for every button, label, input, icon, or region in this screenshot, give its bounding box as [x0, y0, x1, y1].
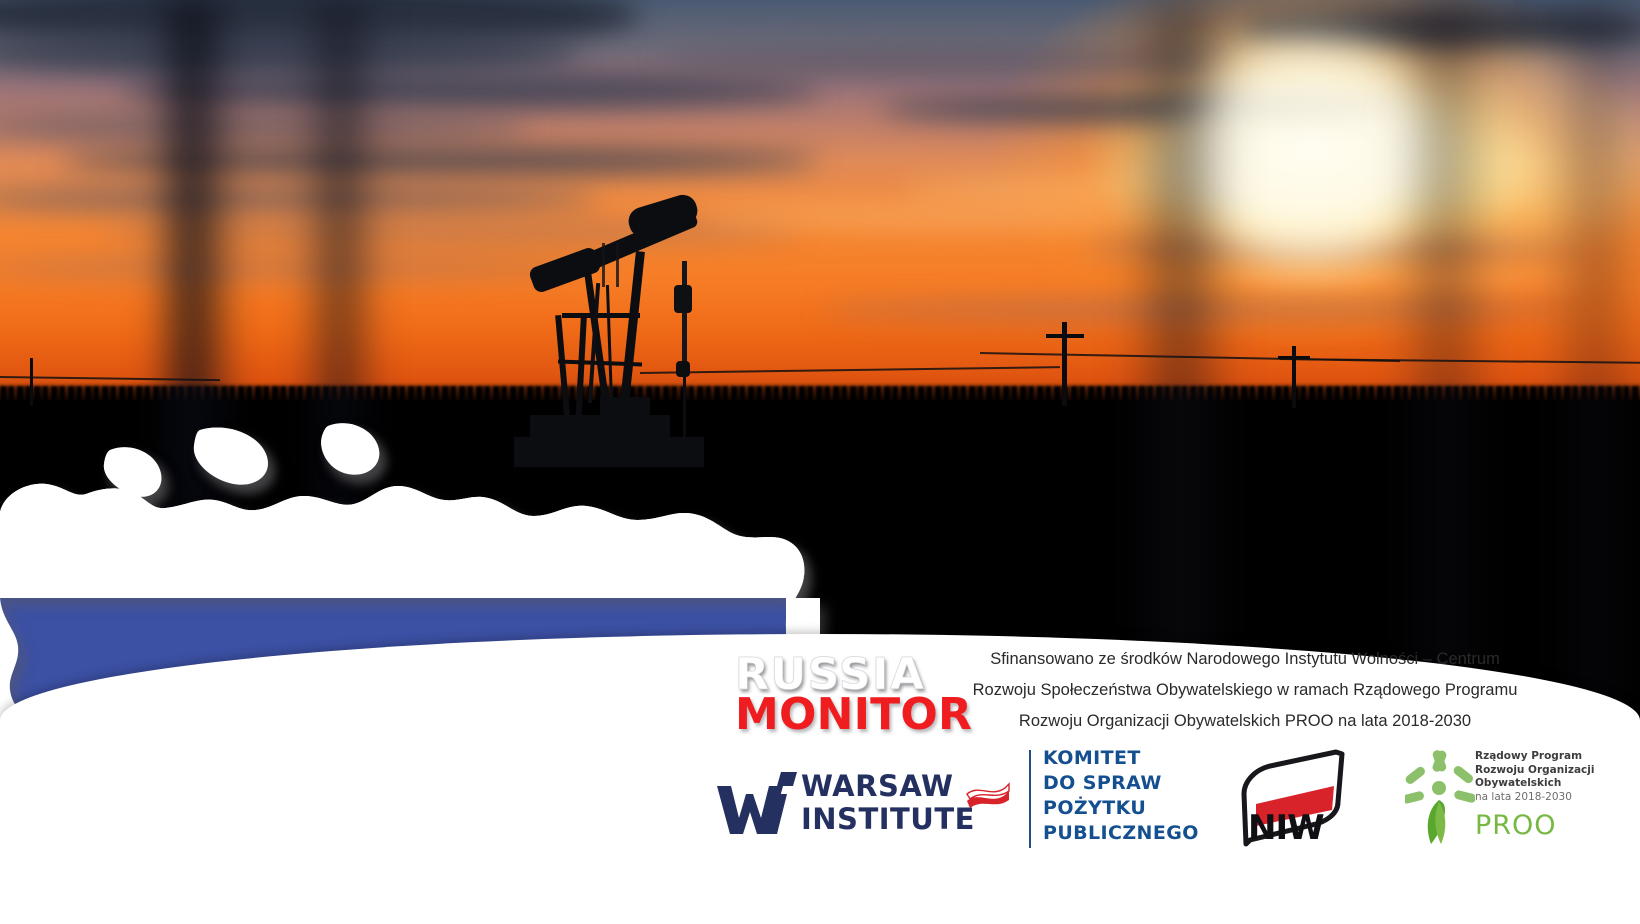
russia-monitor-logo[interactable]: RUSSIA MONITOR — [735, 654, 945, 736]
banner-image: RUSSIA MONITOR Sfinansowano ze środków N… — [0, 0, 1640, 924]
cloud-band — [120, 74, 820, 108]
oil-pumpjack-silhouette — [500, 165, 760, 425]
funding-line-2: Rozwoju Społeczeństwa Obywatelskiego w r… — [960, 675, 1530, 706]
warsaw-institute-text: WARSAW INSTITUTE — [801, 770, 975, 836]
proo-acronym: PROO — [1475, 810, 1557, 841]
utility-pole-crossarm — [1046, 334, 1084, 338]
utility-pole-crossarm — [1278, 356, 1310, 359]
komitet-logo[interactable]: KOMITET DO SPRAW POŻYTKU PUBLICZNEGO — [1005, 744, 1205, 854]
komitet-line-3: POŻYTKU — [1043, 796, 1199, 821]
cloud-band — [660, 46, 1220, 76]
logo-line-monitor: MONITOR — [735, 694, 945, 736]
cloud-band — [1150, 268, 1590, 288]
komitet-line-2: DO SPRAW — [1043, 771, 1199, 796]
niw-logo[interactable]: NIW — [1230, 748, 1350, 850]
proo-line-4: na lata 2018-2030 — [1475, 791, 1595, 805]
komitet-text: KOMITET DO SPRAW POŻYTKU PUBLICZNEGO — [1043, 746, 1199, 846]
footer-panel: RUSSIA MONITOR Sfinansowano ze środków N… — [0, 634, 1640, 924]
komitet-line-1: KOMITET — [1043, 746, 1199, 771]
cloud-band — [0, 258, 580, 278]
niw-text: NIW — [1248, 808, 1324, 848]
warsaw-line-2: INSTITUTE — [801, 803, 975, 836]
funding-line-3: Rozwoju Organizacji Obywatelskich PROO n… — [960, 706, 1530, 737]
komitet-divider — [1029, 750, 1031, 848]
warsaw-institute-logo[interactable]: WARSAW INSTITUTE — [715, 756, 945, 846]
proo-description: Rządowy Program Rozwoju Organizacji Obyw… — [1475, 750, 1595, 804]
komitet-line-4: PUBLICZNEGO — [1043, 821, 1199, 846]
proo-logo[interactable]: Rządowy Program Rozwoju Organizacji Obyw… — [1405, 746, 1595, 854]
funding-line-1: Sfinansowano ze środków Narodowego Insty… — [960, 644, 1530, 675]
proo-line-3: Obywatelskich — [1475, 777, 1595, 791]
proo-line-2: Rozwoju Organizacji — [1475, 764, 1595, 778]
sponsor-logo-row: WARSAW INSTITUTE KOMITET DO SPRAW POŻYTK… — [0, 744, 1640, 874]
wi-monogram-icon — [715, 770, 807, 836]
proo-flower-icon — [1405, 748, 1475, 852]
warsaw-line-1: WARSAW — [801, 770, 975, 803]
cloud-band — [700, 206, 1220, 228]
polish-flag-ribbon-icon — [965, 782, 1025, 814]
proo-line-1: Rządowy Program — [1475, 750, 1595, 764]
funding-statement: Sfinansowano ze środków Narodowego Insty… — [960, 644, 1530, 737]
cloud-band — [820, 300, 1580, 320]
